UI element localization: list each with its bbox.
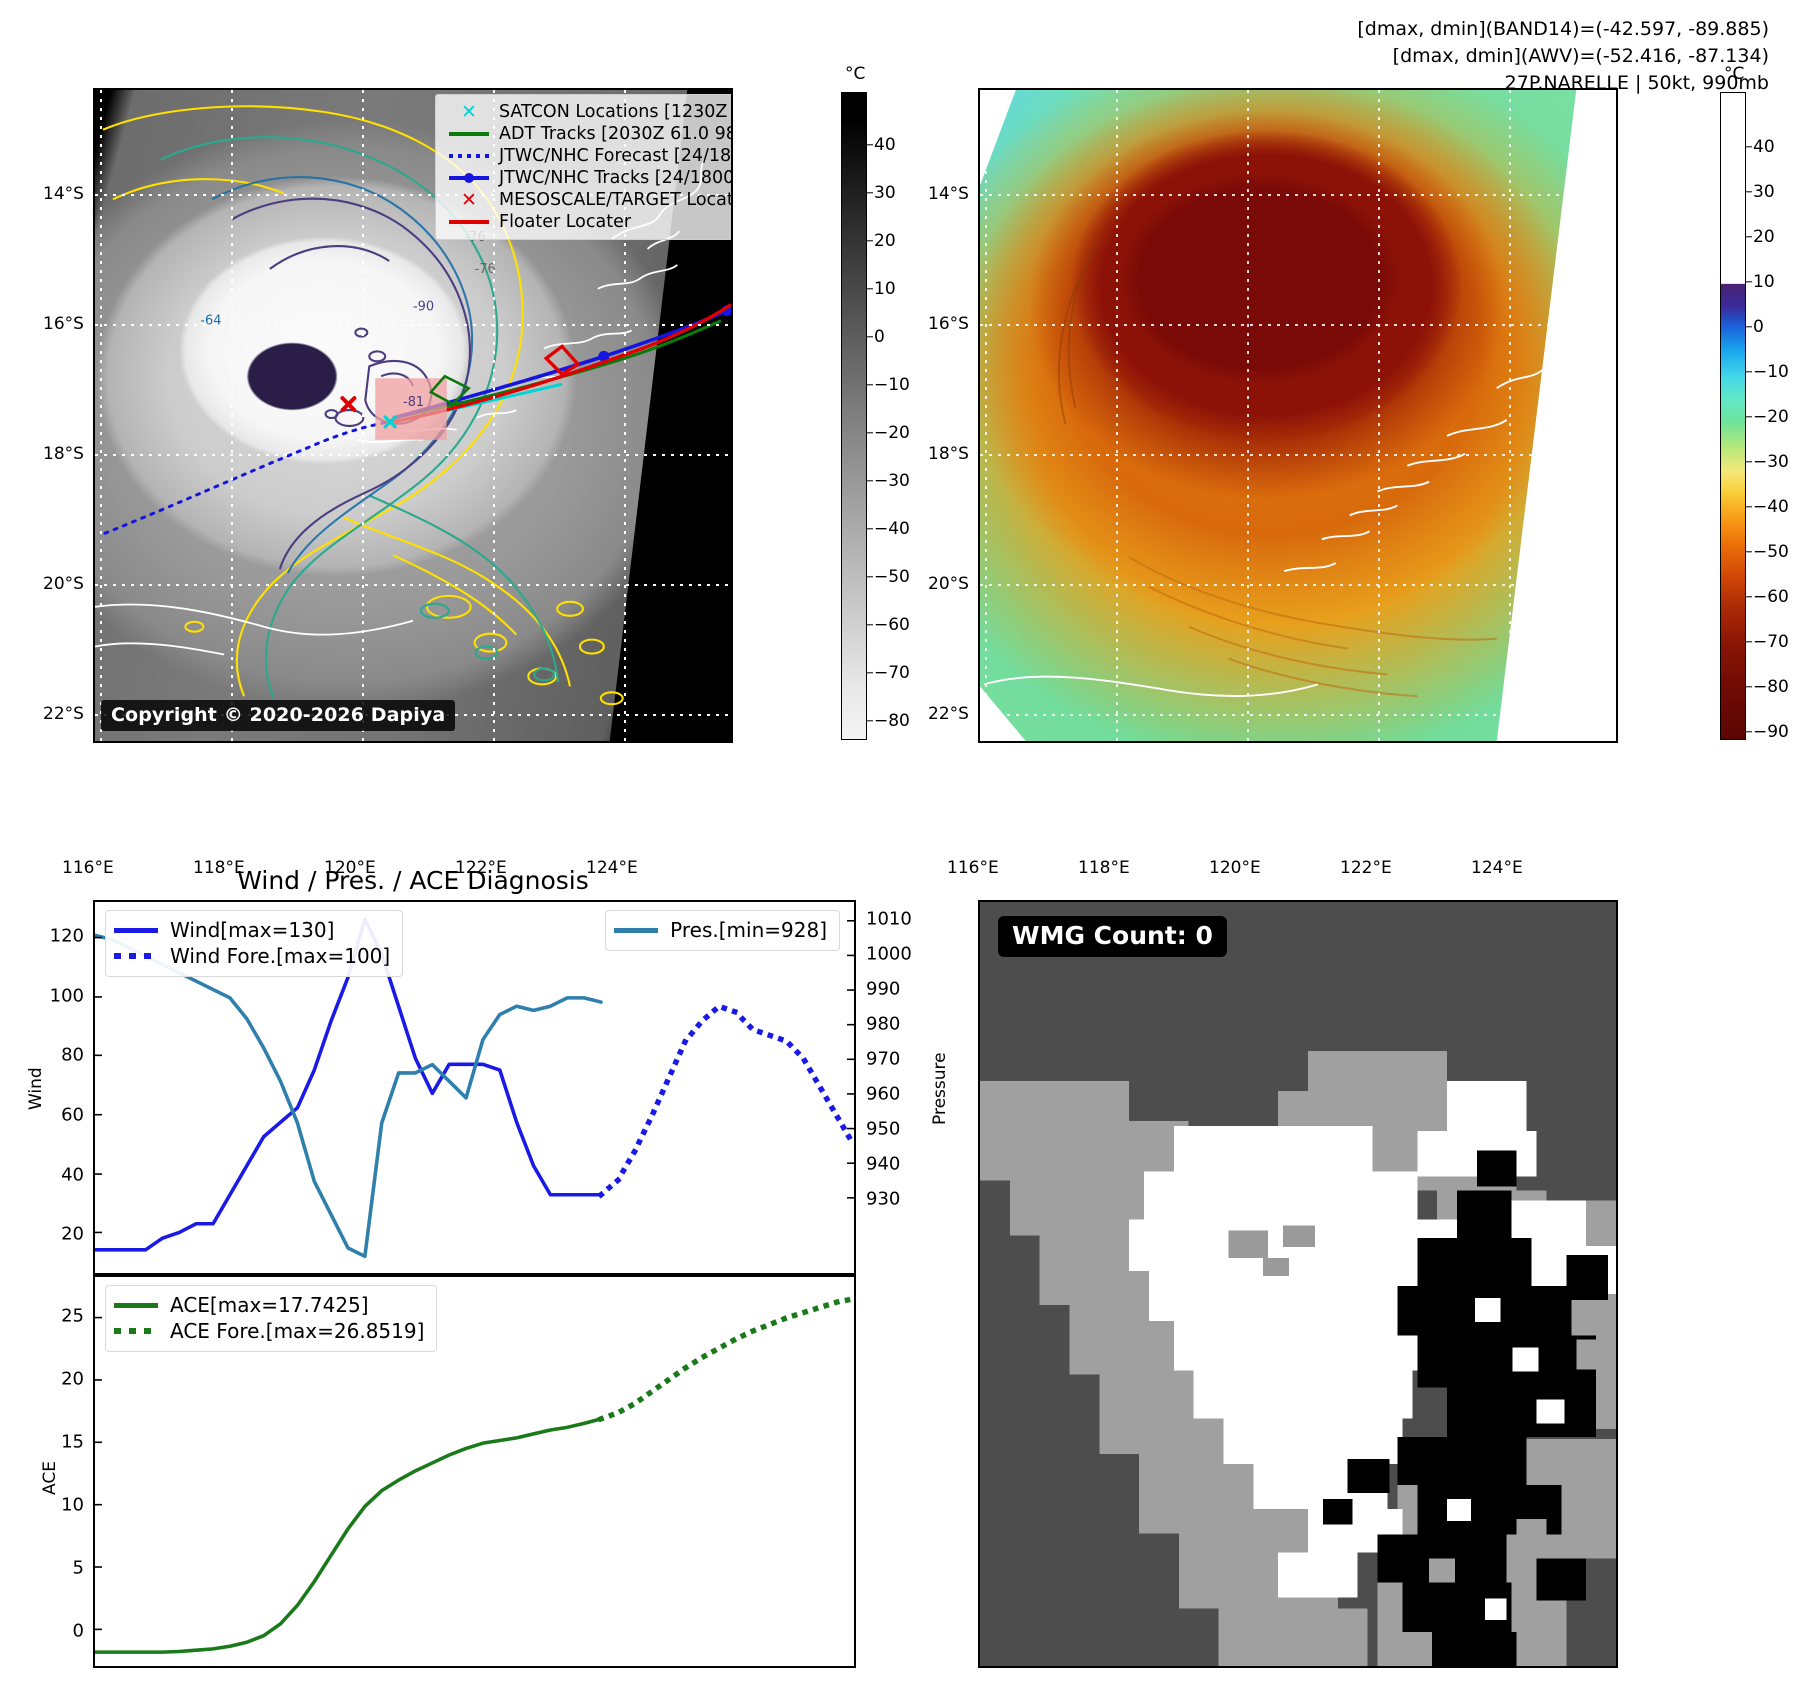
ir-cbar-tick-12: −80 [874, 711, 910, 731]
ir-cbar-tick-0: 40 [874, 135, 896, 155]
awv-cbar-tick-4: 0 [1753, 317, 1764, 337]
wind-ytick-5: 120 [28, 926, 84, 947]
ir-ytick-0: 14°S [43, 184, 84, 204]
awv-cbar-tick-7: −30 [1753, 452, 1789, 472]
ir-cbar-tick-1: 30 [874, 183, 896, 203]
awv-cbar-tick-10: −60 [1753, 587, 1789, 607]
awv-cbar-tick-3: 10 [1753, 272, 1775, 292]
adt-line-icon [443, 132, 495, 135]
ir-cbar-tick-3: 10 [874, 279, 896, 299]
legend-item-floater: Floater Locater [443, 211, 733, 233]
awv-cbar-tick-2: 20 [1753, 227, 1775, 247]
legend-label-adt: ADT Tracks [2030Z 61.0 985.8] [495, 123, 733, 146]
jtwc-forecast-dotted-icon [443, 154, 495, 158]
legend-label-wind: Wind[max=130] [164, 917, 334, 944]
legend-item-ace: ACE[max=17.7425] [114, 1292, 424, 1318]
awv-xtick-0: 116°E [947, 858, 999, 878]
ir-colorbar-gradient [841, 92, 867, 740]
pressure-ytick-2: 950 [866, 1119, 900, 1140]
legend-label-pressure: Pres.[min=928] [664, 917, 827, 944]
ir-cbar-tick-2: 20 [874, 231, 896, 251]
legend-label-floater: Floater Locater [495, 211, 631, 234]
wind-line-icon [114, 928, 164, 933]
satcon-cross-icon: ✕ [443, 103, 495, 122]
awv-cbar-tick-1: 30 [1753, 182, 1775, 202]
legend-label-wind-forecast: Wind Fore.[max=100] [164, 943, 390, 970]
ace-y-axis-label: ACE [40, 1461, 60, 1495]
awv-cbar-tick-11: −70 [1753, 632, 1789, 652]
pressure-ytick-5: 980 [866, 1014, 900, 1035]
wind-ytick-4: 100 [28, 986, 84, 1007]
ir-ytick-4: 22°S [43, 704, 84, 724]
awv-cbar-tick-13: −90 [1753, 722, 1789, 742]
awv-xtick-4: 124°E [1471, 858, 1523, 878]
ir-ytick-3: 20°S [43, 574, 84, 594]
jtwc-track-line-dot-icon [443, 176, 495, 179]
pressure-ytick-0: 930 [866, 1189, 900, 1210]
awv-overlay-graphics [980, 90, 1616, 741]
ir-colorbar-unit: °C [845, 64, 865, 84]
legend-label-satcon: SATCON Locations [1230Z 50 990] [495, 101, 733, 124]
ir-satellite-panel[interactable]: -76 -76 -90 -64 -81 ✕ SATCON Locations [… [93, 88, 733, 743]
pressure-y-axis-label: Pressure [930, 1052, 950, 1125]
copyright-badge: Copyright © 2020-2026 Dapiya [101, 700, 455, 731]
ir-cbar-tick-9: −50 [874, 567, 910, 587]
ace-ytick-2: 10 [28, 1495, 84, 1516]
legend-item-ace-forecast: ACE Fore.[max=26.8519] [114, 1318, 424, 1344]
ace-forecast-dotted-icon [114, 1328, 164, 1334]
ir-cbar-tick-5: −10 [874, 375, 910, 395]
awv-cbar-tick-0: 40 [1753, 137, 1775, 157]
awv-cbar-tick-9: −50 [1753, 542, 1789, 562]
legend-item-wind-forecast: Wind Fore.[max=100] [114, 943, 390, 969]
pressure-ytick-1: 940 [866, 1154, 900, 1175]
awv-ytick-0: 14°S [928, 184, 969, 204]
wind-legend-right: Pres.[min=928] [605, 910, 840, 951]
ace-ytick-4: 20 [28, 1369, 84, 1390]
ir-cbar-tick-7: −30 [874, 471, 910, 491]
legend-item-pressure: Pres.[min=928] [614, 917, 827, 943]
awv-colorbar-unit: °C [1724, 64, 1744, 84]
header-stats: [dmax, dmin](BAND14)=(-42.597, -89.885) … [1357, 16, 1769, 97]
ir-ytick-1: 16°S [43, 314, 84, 334]
wind-ytick-2: 60 [28, 1105, 84, 1126]
pressure-ytick-7: 1000 [866, 944, 912, 965]
wmg-raster-image [980, 902, 1616, 1666]
pressure-ytick-6: 990 [866, 979, 900, 1000]
legend-item-wind: Wind[max=130] [114, 917, 390, 943]
awv-colorbar-gradient [1720, 92, 1746, 740]
awv-cbar-tick-6: −20 [1753, 407, 1789, 427]
awv-ytick-3: 20°S [928, 574, 969, 594]
awv-xtick-2: 120°E [1209, 858, 1261, 878]
ir-ytick-2: 18°S [43, 444, 84, 464]
legend-item-adt: ADT Tracks [2030Z 61.0 985.8] [443, 123, 733, 145]
legend-item-jtwc-forecast: JTWC/NHC Forecast [24/1800Z] [443, 145, 733, 167]
ace-ytick-0: 0 [28, 1621, 84, 1642]
ace-ytick-1: 5 [28, 1558, 84, 1579]
svg-text:-64: -64 [200, 314, 221, 329]
dmax-awv-text: [dmax, dmin](AWV)=(-52.416, -87.134) [1357, 43, 1769, 70]
awv-satellite-panel[interactable] [978, 88, 1618, 743]
awv-ytick-1: 16°S [928, 314, 969, 334]
legend-label-jtwc-tracks: JTWC/NHC Tracks [24/1800Z] [495, 167, 733, 190]
dashboard-root: HIMAWARI-9 BAND14-DIAS TARGET AREA Time:… [0, 0, 1797, 1690]
pressure-ytick-8: 1010 [866, 909, 912, 930]
awv-cbar-tick-5: −10 [1753, 362, 1789, 382]
ace-ytick-5: 25 [28, 1306, 84, 1327]
wmg-count-badge: WMG Count: 0 [998, 916, 1227, 957]
ir-cbar-tick-10: −60 [874, 615, 910, 635]
awv-xtick-3: 122°E [1340, 858, 1392, 878]
svg-text:-81: -81 [403, 395, 424, 410]
legend-item-mesoscale: ✕ MESOSCALE/TARGET Location [443, 189, 733, 211]
wind-forecast-dotted-icon [114, 953, 164, 959]
wind-legend-left: Wind[max=130] Wind Fore.[max=100] [105, 910, 403, 977]
ace-chart[interactable]: ACE[max=17.7425] ACE Fore.[max=26.8519] [93, 1275, 856, 1668]
ir-map-legend: ✕ SATCON Locations [1230Z 50 990] ADT Tr… [435, 94, 733, 240]
wind-pressure-chart[interactable]: Wind[max=130] Wind Fore.[max=100] Pres.[… [93, 900, 856, 1275]
dmax-band14-text: [dmax, dmin](BAND14)=(-42.597, -89.885) [1357, 16, 1769, 43]
awv-ytick-4: 22°S [928, 704, 969, 724]
ir-cbar-tick-8: −40 [874, 519, 910, 539]
legend-label-ace-forecast: ACE Fore.[max=26.8519] [164, 1318, 424, 1345]
ir-cbar-tick-11: −70 [874, 663, 910, 683]
legend-label-jtwc-forecast: JTWC/NHC Forecast [24/1800Z] [495, 145, 733, 168]
pressure-ytick-3: 960 [866, 1084, 900, 1105]
wind-ytick-3: 80 [28, 1045, 84, 1066]
legend-item-satcon: ✕ SATCON Locations [1230Z 50 990] [443, 101, 733, 123]
legend-label-mesoscale: MESOSCALE/TARGET Location [495, 189, 733, 212]
wind-chart-title: Wind / Pres. / ACE Diagnosis [93, 866, 733, 895]
ace-line-icon [114, 1303, 164, 1308]
awv-ytick-2: 18°S [928, 444, 969, 464]
mesoscale-cross-icon: ✕ [443, 191, 495, 210]
svg-text:-90: -90 [413, 300, 434, 315]
awv-xtick-1: 118°E [1078, 858, 1130, 878]
awv-cbar-tick-8: −40 [1753, 497, 1789, 517]
awv-cbar-tick-12: −80 [1753, 677, 1789, 697]
wmg-panel[interactable]: WMG Count: 0 [978, 900, 1618, 1668]
legend-item-jtwc-tracks: JTWC/NHC Tracks [24/1800Z] [443, 167, 733, 189]
ir-cbar-tick-6: −20 [874, 423, 910, 443]
floater-line-icon [443, 220, 495, 223]
wind-ytick-0: 20 [28, 1224, 84, 1245]
ace-legend: ACE[max=17.7425] ACE Fore.[max=26.8519] [105, 1285, 437, 1352]
pressure-line-icon [614, 928, 664, 933]
pressure-ytick-4: 970 [866, 1049, 900, 1070]
legend-label-ace: ACE[max=17.7425] [164, 1292, 369, 1319]
wind-ytick-1: 40 [28, 1165, 84, 1186]
ir-cbar-tick-4: 0 [874, 327, 885, 347]
ace-ytick-3: 15 [28, 1432, 84, 1453]
